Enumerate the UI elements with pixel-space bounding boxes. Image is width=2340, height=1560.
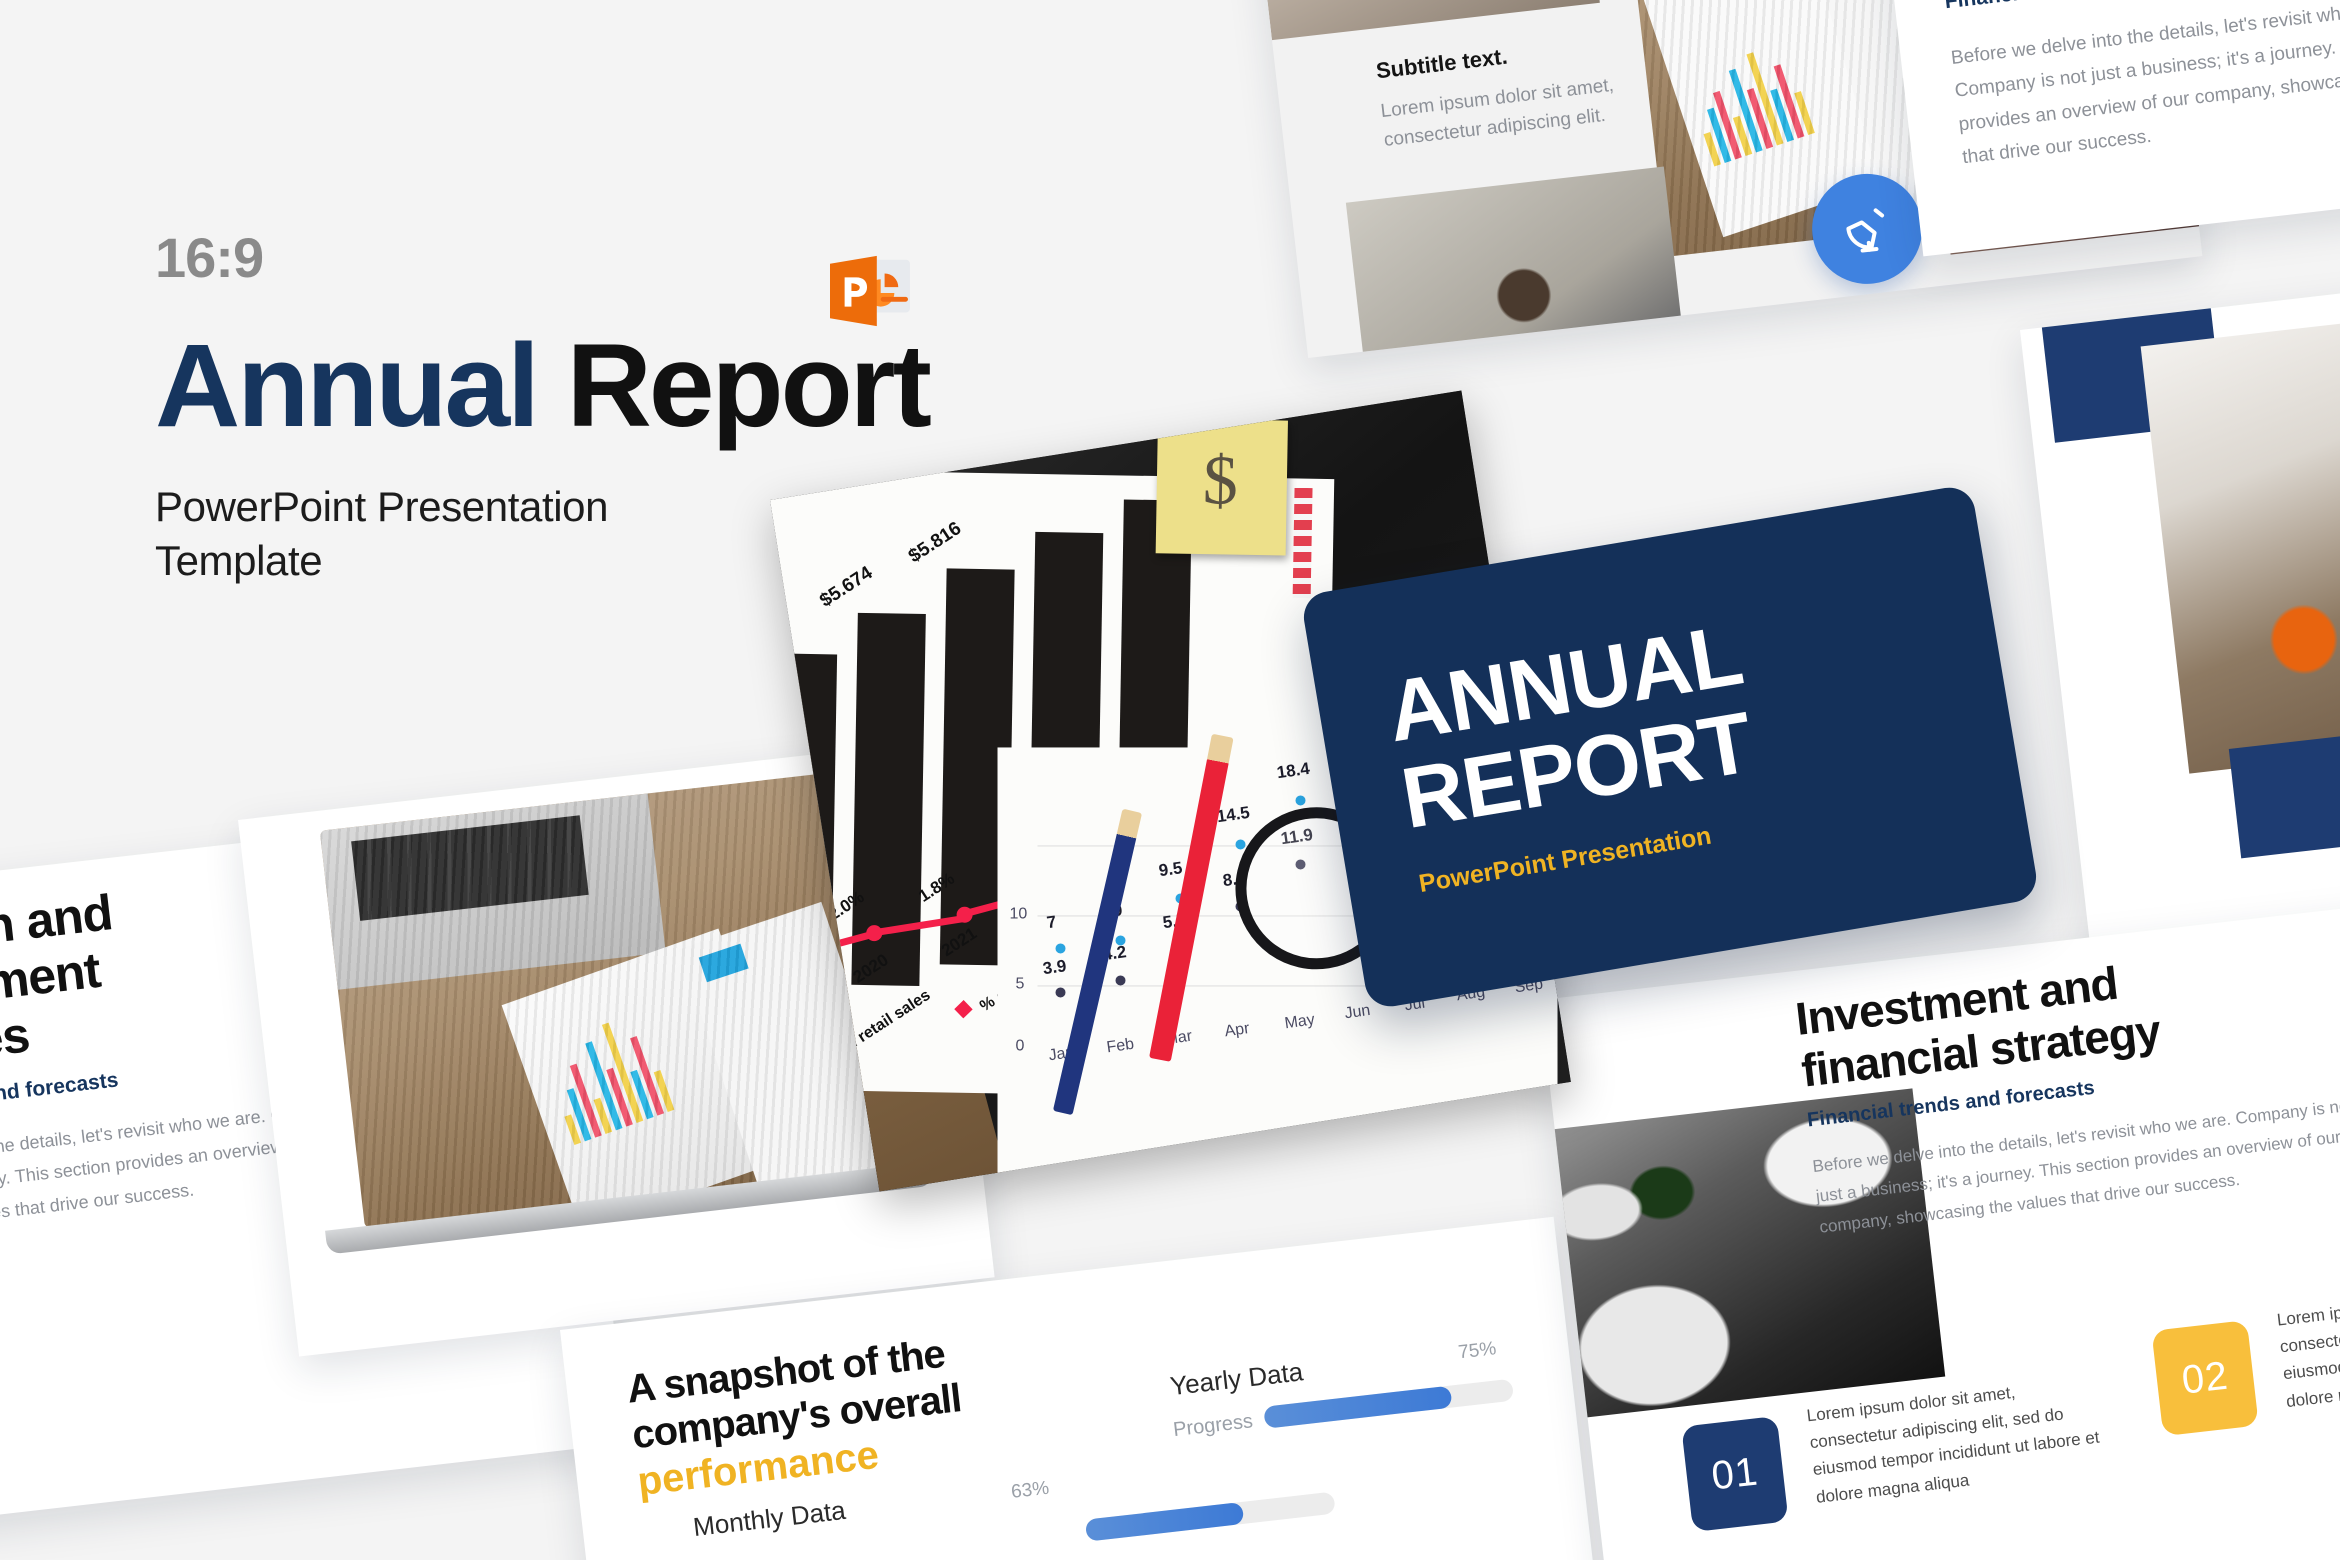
mockup-canvas: Subtitle text. Lorem ipsum dolor sit ame… bbox=[0, 0, 2340, 1560]
number-chip-01: 01 bbox=[1681, 1416, 1788, 1532]
line-point-dark-2 bbox=[1116, 975, 1126, 985]
photo-coffee bbox=[1238, 0, 1600, 40]
top-text-body: Before we delve into the details, let's … bbox=[1949, 0, 2340, 174]
y-tick-5: 5 bbox=[1016, 975, 1025, 993]
y-tick-0: 0 bbox=[1016, 1037, 1025, 1055]
page-subtitle: PowerPoint Presentation Template bbox=[155, 480, 1055, 588]
bar-label-2019: $5.574 bbox=[770, 605, 786, 655]
x-tick-feb: Feb bbox=[1106, 1036, 1136, 1058]
line-label-blue-4: 14.5 bbox=[1216, 803, 1252, 827]
line-point-dark-1 bbox=[1056, 987, 1066, 997]
x-tick-may: May bbox=[1284, 1011, 1316, 1033]
number-chip-01-label: 01 bbox=[1709, 1449, 1760, 1499]
slide-top-text[interactable]: Financial trends and forecasts Before we… bbox=[1860, 0, 2340, 256]
line-label-blue-3: 9.5 bbox=[1158, 858, 1184, 881]
page-subtitle-line1: PowerPoint Presentation bbox=[155, 480, 1055, 534]
slide-investment[interactable]: Investment and financial strategy Financ… bbox=[1540, 887, 2340, 1560]
slide-right-photo[interactable] bbox=[2020, 267, 2340, 1026]
photo-man bbox=[1346, 167, 1701, 358]
line-point-blue-1 bbox=[1056, 943, 1066, 953]
page-title-part2: Report bbox=[567, 320, 929, 452]
top-text-eyebrow: Financial trends and forecasts bbox=[1943, 0, 2247, 14]
snapshot-monthly-progress-track bbox=[1085, 1492, 1336, 1542]
page-title-part1: Annual bbox=[155, 320, 537, 452]
line-label-dark-1: 3.9 bbox=[1042, 956, 1068, 979]
line-point-blue-4 bbox=[1236, 839, 1246, 849]
aspect-ratio-label: 16:9 bbox=[155, 230, 1055, 286]
satellite-dish-icon bbox=[1836, 198, 1898, 260]
sticky-note-dollar: $ bbox=[1156, 418, 1288, 555]
number-chip-02-label: 02 bbox=[2179, 1353, 2230, 1403]
numbered-item1-body: Lorem ipsum dolor sit amet, consectetur … bbox=[1805, 1369, 2115, 1511]
snapshot-yearly-value: 75% bbox=[1457, 1338, 1497, 1364]
y-tick-10: 10 bbox=[1010, 905, 1028, 923]
legend-swatch-pct bbox=[954, 1000, 972, 1018]
snapshot-monthly-progress-fill bbox=[1085, 1502, 1244, 1542]
page-subtitle-line2: Template bbox=[155, 534, 1055, 588]
snapshot-yearly-progress-fill bbox=[1263, 1386, 1452, 1429]
hero-block: 16:9 Annual Report PowerPoint Presentati… bbox=[155, 230, 1055, 588]
photo-woman-laptop bbox=[2141, 298, 2340, 774]
line-label-blue-5: 18.4 bbox=[1276, 759, 1312, 783]
numbered-item2-body: Lorem ipsum dolor sit amet, consectetur … bbox=[2275, 1273, 2340, 1415]
photo-laptop-screen bbox=[320, 772, 882, 1228]
snapshot-monthly-value: 63% bbox=[1010, 1478, 1050, 1504]
powerpoint-icon bbox=[820, 252, 918, 330]
page-title: Annual Report bbox=[155, 326, 1055, 446]
decor-navy-rect-bottom bbox=[2229, 732, 2340, 858]
number-chip-02: 02 bbox=[2151, 1320, 2258, 1436]
gallery-card1-body: Lorem ipsum dolor sit amet, consectetur … bbox=[1379, 71, 1624, 155]
x-tick-apr: Apr bbox=[1224, 1020, 1251, 1041]
line-point-blue-5 bbox=[1296, 795, 1306, 805]
x-tick-jun: Jun bbox=[1344, 1002, 1372, 1023]
snapshot-progress-label: Progress bbox=[1172, 1410, 1254, 1442]
